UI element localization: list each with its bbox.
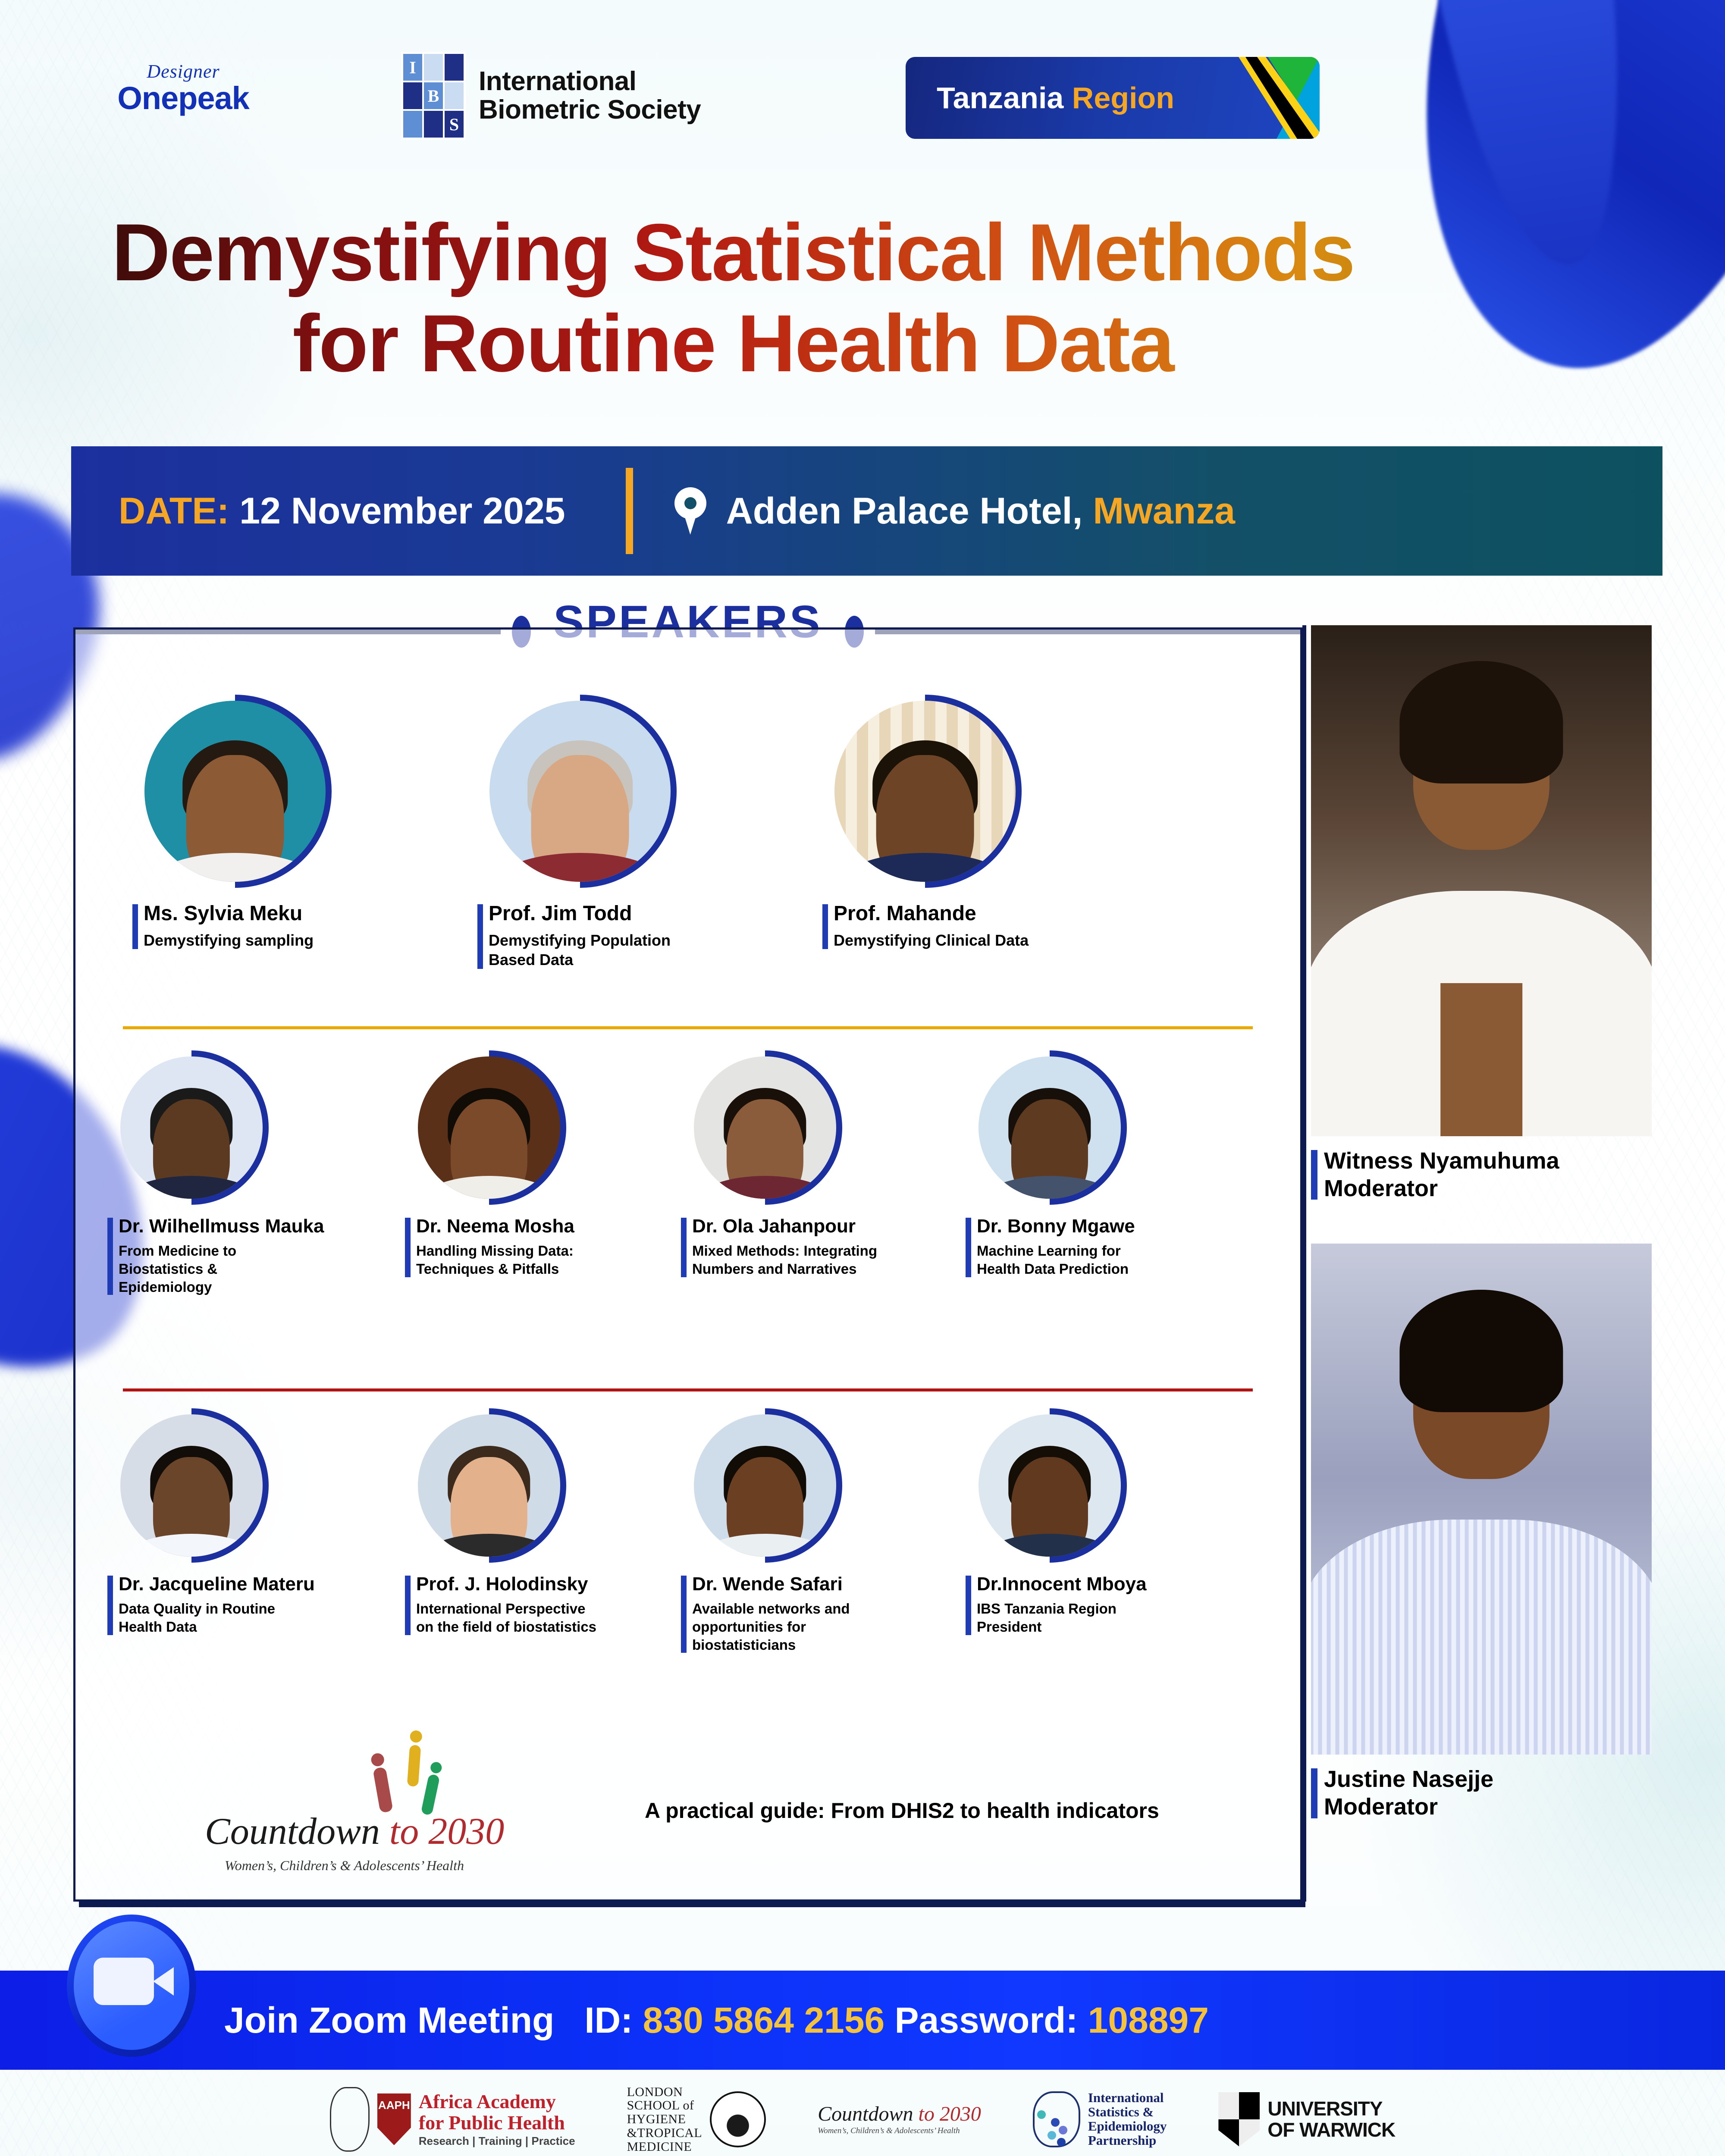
brand-header: Designer Onepeak I B S International Bio… <box>0 47 1725 142</box>
speaker-topic: International Perspective on the field o… <box>416 1600 597 1636</box>
speaker-card[interactable]: Prof. J. Holodinsky International Perspe… <box>403 1414 679 1654</box>
speaker-topic: Handling Missing Data: Techniques & Pitf… <box>416 1242 589 1278</box>
speaker-meta: Dr. Wende Safari Available networks and … <box>681 1574 964 1654</box>
speaker-name: Ms. Sylvia Meku <box>144 903 472 925</box>
speaker-photo <box>694 1414 836 1557</box>
speaker-photo <box>979 1056 1121 1199</box>
onepeak-logo: Designer Onepeak <box>93 60 274 116</box>
aaph-tagline: Research | Training | Practice <box>419 2135 575 2147</box>
accent-bar <box>1311 1768 1317 1818</box>
speaker-meta: Dr. Bonny Mgawe Machine Learning for Hea… <box>966 1216 1240 1278</box>
onepeak-designer-label: Designer <box>93 60 274 82</box>
speaker-name: Dr. Wilhellmuss Mauka <box>119 1216 403 1237</box>
warwick-line2: OF WARWICK <box>1267 2119 1395 2140</box>
zoom-join-label: Join Zoom Meeting <box>224 2000 554 2040</box>
page-title: Demystifying Statistical Methods for Rou… <box>0 207 1466 389</box>
title-line-2: for Routine Health Data <box>292 298 1173 389</box>
moderator-photo <box>1311 1244 1652 1755</box>
accent-bar <box>107 1218 113 1295</box>
zoom-meeting-bar[interactable]: Join Zoom MeetingID: 830 5864 2156 Passw… <box>0 1971 1725 2070</box>
moderator-name: Witness Nyamuhuma <box>1324 1147 1652 1175</box>
speaker-name: Dr.Innocent Mboya <box>977 1574 1240 1595</box>
zoom-password-value: 108897 <box>1088 2000 1209 2040</box>
speaker-meta: Dr. Jacqueline Materu Data Quality in Ro… <box>107 1574 403 1636</box>
aaph-title-line1: Africa Academy <box>419 2091 575 2112</box>
speaker-name: Dr. Neema Mosha <box>416 1216 679 1237</box>
speaker-name: Prof. J. Holodinsky <box>416 1574 679 1595</box>
event-date-venue-banner: DATE: 12 November 2025 Adden Palace Hote… <box>71 446 1662 576</box>
africa-network-icon <box>1033 2091 1080 2147</box>
lshtm-line3: HYGIENE <box>627 2112 703 2126</box>
speaker-card[interactable]: Dr. Jacqueline Materu Data Quality in Ro… <box>106 1414 403 1654</box>
event-venue: Adden Palace Hotel, Mwanza <box>726 490 1235 533</box>
speaker-topic: Mixed Methods: Integrating Numbers and N… <box>692 1242 878 1278</box>
banner-separator <box>626 468 633 554</box>
speaker-topic: Machine Learning for Health Data Predict… <box>977 1242 1149 1278</box>
countdown-logo-tagline: Women’s, Children’s & Adolescents’ Healt… <box>225 1858 550 1874</box>
speaker-photo <box>489 701 671 882</box>
zoom-meeting-text: Join Zoom MeetingID: 830 5864 2156 Passw… <box>224 1999 1209 2041</box>
accent-bar <box>405 1218 411 1277</box>
ibs-letter-i: I <box>403 54 422 81</box>
accent-bar <box>822 904 828 949</box>
speaker-meta: Dr. Neema Mosha Handling Missing Data: T… <box>405 1216 679 1278</box>
lshtm-line1: LONDON <box>627 2085 703 2099</box>
moderators-rail <box>1302 625 1306 1902</box>
speakers-row-3: Dr. Jacqueline Materu Data Quality in Ro… <box>75 1414 1300 1654</box>
moderators-column: Witness Nyamuhuma Moderator Justine Nase… <box>1311 625 1652 1821</box>
tanzania-flag-icon <box>1212 57 1320 139</box>
speaker-photo <box>979 1414 1121 1557</box>
speaker-card[interactable]: Dr.Innocent Mboya IBS Tanzania Region Pr… <box>964 1414 1240 1654</box>
accent-bar <box>405 1576 411 1635</box>
speaker-card[interactable]: Dr. Neema Mosha Handling Missing Data: T… <box>403 1056 679 1296</box>
speaker-topic: Demystifying sampling <box>144 931 472 950</box>
aaph-badge-text: AAPH <box>378 2099 410 2112</box>
logo-lshtm: LONDON SCHOOL of HYGIENE &TROPICAL MEDIC… <box>627 2085 766 2154</box>
speaker-meta: Prof. Jim Todd Demystifying Population B… <box>477 903 817 970</box>
speaker-meta: Prof. J. Holodinsky International Perspe… <box>405 1574 679 1636</box>
accent-bar <box>107 1576 113 1635</box>
speaker-topic: Available networks and opportunities for… <box>692 1600 882 1654</box>
moderator-card[interactable]: Witness Nyamuhuma Moderator <box>1311 625 1652 1202</box>
lshtm-crest-icon <box>710 2091 766 2147</box>
accent-bar <box>681 1576 687 1653</box>
speaker-card[interactable]: Dr. Wilhellmuss Mauka From Medicine to B… <box>106 1056 403 1296</box>
speaker-photo <box>144 701 326 882</box>
lshtm-line4: &TROPICAL <box>627 2126 703 2140</box>
accent-bar <box>132 904 138 949</box>
speakers-row-1: Ms. Sylvia Meku Demystifying sampling Pr… <box>75 701 1300 970</box>
speaker-meta: Prof. Mahande Demystifying Clinical Data <box>822 903 1162 950</box>
isep-line1: International <box>1088 2091 1167 2105</box>
partner-logos-row-1: AAPH Africa Academy for Public Health Re… <box>0 2070 1725 2156</box>
zoom-id-label: ID: <box>584 2000 643 2040</box>
title-line-1: Demystifying Statistical Methods <box>112 207 1355 298</box>
ibs-name-line2: Biometric Society <box>479 96 701 124</box>
aaph-title-line2: for Public Health <box>419 2112 575 2134</box>
logo-isep: International Statistics & Epidemiology … <box>1033 2091 1167 2147</box>
warwick-line1: UNIVERSITY <box>1267 2098 1395 2119</box>
speaker-card[interactable]: Dr. Bonny Mgawe Machine Learning for Hea… <box>964 1056 1240 1296</box>
speaker-card[interactable]: Prof. Jim Todd Demystifying Population B… <box>472 701 817 970</box>
accent-bar <box>966 1218 971 1277</box>
speaker-name: Prof. Jim Todd <box>489 903 817 925</box>
moderator-name: Justine Nasejje <box>1324 1766 1652 1793</box>
africa-map-icon <box>330 2087 370 2152</box>
speaker-photo <box>694 1056 836 1199</box>
accent-bar <box>966 1576 971 1635</box>
accent-bar <box>477 904 483 969</box>
moderator-role: Moderator <box>1324 1175 1652 1203</box>
partner-logos: AAPH Africa Academy for Public Health Re… <box>0 2070 1725 2156</box>
isep-line3: Epidemiology <box>1088 2119 1167 2134</box>
row-divider-red <box>123 1388 1253 1391</box>
speaker-topic: IBS Tanzania Region President <box>977 1600 1149 1636</box>
speaker-name: Dr. Bonny Mgawe <box>977 1216 1240 1237</box>
speaker-meta: Ms. Sylvia Meku Demystifying sampling <box>132 903 472 950</box>
zoom-id-value: 830 5864 2156 <box>643 2000 885 2040</box>
event-date: DATE: 12 November 2025 <box>119 490 565 533</box>
speaker-photo <box>418 1056 560 1199</box>
ibs-name-line1: International <box>479 67 701 96</box>
speaker-card[interactable]: Dr. Ola Jahanpour Mixed Methods: Integra… <box>679 1056 964 1296</box>
ibs-letter-b: B <box>424 82 443 109</box>
ibs-mark-icon: I B S <box>401 52 466 140</box>
speaker-meta: Dr. Wilhellmuss Mauka From Medicine to B… <box>107 1216 403 1296</box>
speakers-row-2: Dr. Wilhellmuss Mauka From Medicine to B… <box>75 1056 1300 1296</box>
speaker-topic: Data Quality in Routine Health Data <box>119 1600 291 1636</box>
speaker-card[interactable]: Dr. Wende Safari Available networks and … <box>679 1414 964 1654</box>
speaker-name: Dr. Ola Jahanpour <box>692 1216 964 1237</box>
ibs-letter-s: S <box>445 111 464 138</box>
onepeak-name: Onepeak <box>93 80 274 116</box>
lshtm-line5: MEDICINE <box>627 2140 703 2154</box>
accent-bar <box>681 1218 687 1277</box>
warwick-crest-icon <box>1218 2092 1260 2147</box>
ibs-logo: I B S International Biometric Society <box>401 52 701 140</box>
logo-warwick: UNIVERSITY OF WARWICK <box>1218 2092 1395 2147</box>
speaker-meta: Dr. Ola Jahanpour Mixed Methods: Integra… <box>681 1216 964 1278</box>
row-divider-gold <box>123 1026 1253 1029</box>
speaker-photo <box>418 1414 560 1557</box>
countdown-footer-name: Countdown to 2030 <box>818 2103 981 2125</box>
tanzania-region-label: Tanzania Region <box>937 81 1174 115</box>
lshtm-line2: SCHOOL of <box>627 2099 703 2112</box>
tanzania-region-badge: Tanzania Region <box>906 57 1320 139</box>
moderator-photo <box>1311 625 1652 1136</box>
speaker-name: Dr. Wende Safari <box>692 1574 964 1595</box>
aaph-shield-icon: AAPH <box>377 2093 411 2145</box>
speaker-photo <box>834 701 1016 882</box>
moderator-card[interactable]: Justine Nasejje Moderator <box>1311 1244 1652 1821</box>
countdown-footer-tagline: Women’s, Children’s & Adolescents’ Healt… <box>818 2127 981 2135</box>
speaker-photo <box>120 1056 263 1199</box>
speaker-meta: Dr.Innocent Mboya IBS Tanzania Region Pr… <box>966 1574 1240 1636</box>
ibs-name: International Biometric Society <box>479 67 701 124</box>
speaker-name: Prof. Mahande <box>834 903 1162 925</box>
speaker-topic: Demystifying Population Based Data <box>489 931 678 970</box>
accent-bar <box>1311 1150 1317 1200</box>
speaker-topic: Demystifying Clinical Data <box>834 931 1162 950</box>
speakers-panel: Ms. Sylvia Meku Demystifying sampling Pr… <box>73 627 1302 1902</box>
speaker-name: Dr. Jacqueline Materu <box>119 1574 403 1595</box>
practical-guide-text: A practical guide: From DHIS2 to health … <box>645 1798 1159 1823</box>
zoom-password-label: Password: <box>884 2000 1088 2040</box>
logo-countdown-2030: Countdown to 2030 Women’s, Children’s & … <box>818 2103 981 2136</box>
countdown-and-guide: Countdown to 2030 Women’s, Children’s & … <box>205 1748 1240 1874</box>
speaker-topic: From Medicine to Biostatistics & Epidemi… <box>119 1242 300 1296</box>
speaker-card[interactable]: Prof. Mahande Demystifying Clinical Data <box>817 701 1162 970</box>
zoom-camera-icon <box>67 1915 196 2057</box>
moderator-meta: Justine Nasejje Moderator <box>1311 1766 1652 1821</box>
speaker-photo <box>120 1414 263 1557</box>
logo-aaph: AAPH Africa Academy for Public Health Re… <box>330 2087 575 2152</box>
isep-line2: Statistics & <box>1088 2105 1167 2119</box>
speaker-card[interactable]: Ms. Sylvia Meku Demystifying sampling <box>127 701 472 970</box>
moderator-role: Moderator <box>1324 1793 1652 1821</box>
isep-line4: Partnership <box>1088 2134 1167 2148</box>
countdown-people-icon <box>369 1748 550 1812</box>
moderator-meta: Witness Nyamuhuma Moderator <box>1311 1147 1652 1202</box>
countdown-logo-name: Countdown to 2030 <box>205 1810 550 1853</box>
map-pin-icon <box>674 487 706 535</box>
countdown-2030-logo: Countdown to 2030 Women’s, Children’s & … <box>205 1748 550 1874</box>
